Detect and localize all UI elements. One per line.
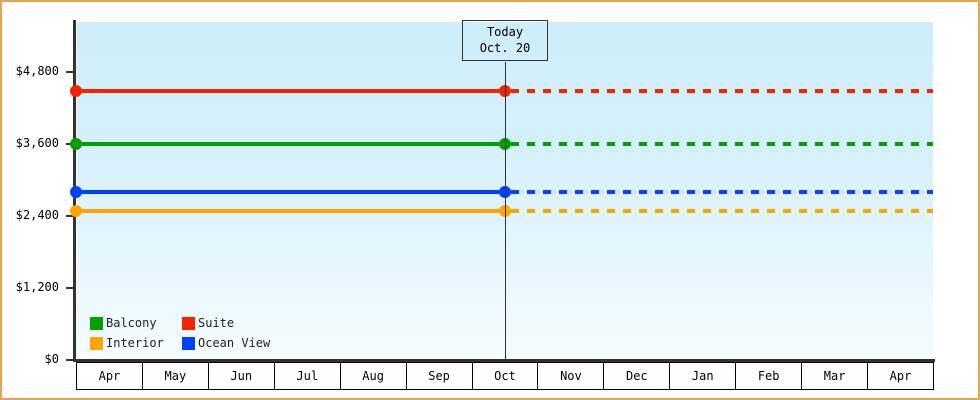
legend-label: Interior [106, 336, 164, 350]
month-cell-jul[interactable]: Jul [275, 362, 341, 390]
month-cell-feb[interactable]: Feb [736, 362, 802, 390]
chart-legend: BalconySuiteInteriorOcean View [90, 313, 270, 353]
y-axis-tick [66, 359, 74, 361]
legend-item-ocean-view[interactable]: Ocean View [182, 333, 270, 353]
legend-swatch-icon [182, 317, 195, 330]
month-cell-apr[interactable]: Apr [77, 362, 143, 390]
month-cell-sep[interactable]: Sep [407, 362, 473, 390]
legend-item-suite[interactable]: Suite [182, 313, 270, 333]
y-axis-tick [66, 287, 74, 289]
series-line-solid-balcony [77, 142, 505, 146]
month-cell-dec[interactable]: Dec [604, 362, 670, 390]
month-cell-jan[interactable]: Jan [670, 362, 736, 390]
legend-label: Ocean View [198, 336, 270, 350]
series-line-dashed-interior [511, 209, 933, 213]
series-line-dashed-balcony [511, 142, 933, 146]
legend-swatch-icon [90, 317, 103, 330]
series-line-solid-suite [77, 89, 505, 93]
today-annotation-box: Today Oct. 20 [462, 20, 548, 61]
series-line-solid-interior [77, 209, 505, 213]
today-label-line2: Oct. 20 [473, 40, 537, 56]
y-axis-label: $3,600 [16, 136, 59, 150]
x-axis-month-table: AprMayJunJulAugSepOctNovDecJanFebMarApr [76, 362, 934, 390]
series-line-dashed-suite [511, 89, 933, 93]
legend-item-interior[interactable]: Interior [90, 333, 182, 353]
series-line-dashed-ocean-view [511, 190, 933, 194]
series-line-solid-ocean-view [77, 190, 505, 194]
month-cell-nov[interactable]: Nov [538, 362, 604, 390]
y-axis-label: $4,800 [16, 64, 59, 78]
month-cell-mar[interactable]: Mar [802, 362, 868, 390]
y-axis-label: $2,400 [16, 208, 59, 222]
y-axis-tick [66, 71, 74, 73]
series-marker-start-ocean-view [70, 186, 82, 198]
month-cell-jun[interactable]: Jun [209, 362, 275, 390]
legend-swatch-icon [90, 337, 103, 350]
month-cell-aug[interactable]: Aug [341, 362, 407, 390]
month-cell-apr[interactable]: Apr [868, 362, 934, 390]
price-forecast-chart: $4,800$3,600$2,400$1,200$0 Today Oct. 20… [0, 0, 980, 400]
legend-label: Suite [198, 316, 234, 330]
y-axis-label: $1,200 [16, 280, 59, 294]
month-cell-oct[interactable]: Oct [473, 362, 539, 390]
month-cell-may[interactable]: May [143, 362, 209, 390]
legend-label: Balcony [106, 316, 157, 330]
series-marker-start-balcony [70, 138, 82, 150]
y-axis-label: $0 [45, 352, 59, 366]
legend-item-balcony[interactable]: Balcony [90, 313, 182, 333]
legend-swatch-icon [182, 337, 195, 350]
today-vertical-line [505, 62, 506, 360]
today-label-line1: Today [473, 24, 537, 40]
